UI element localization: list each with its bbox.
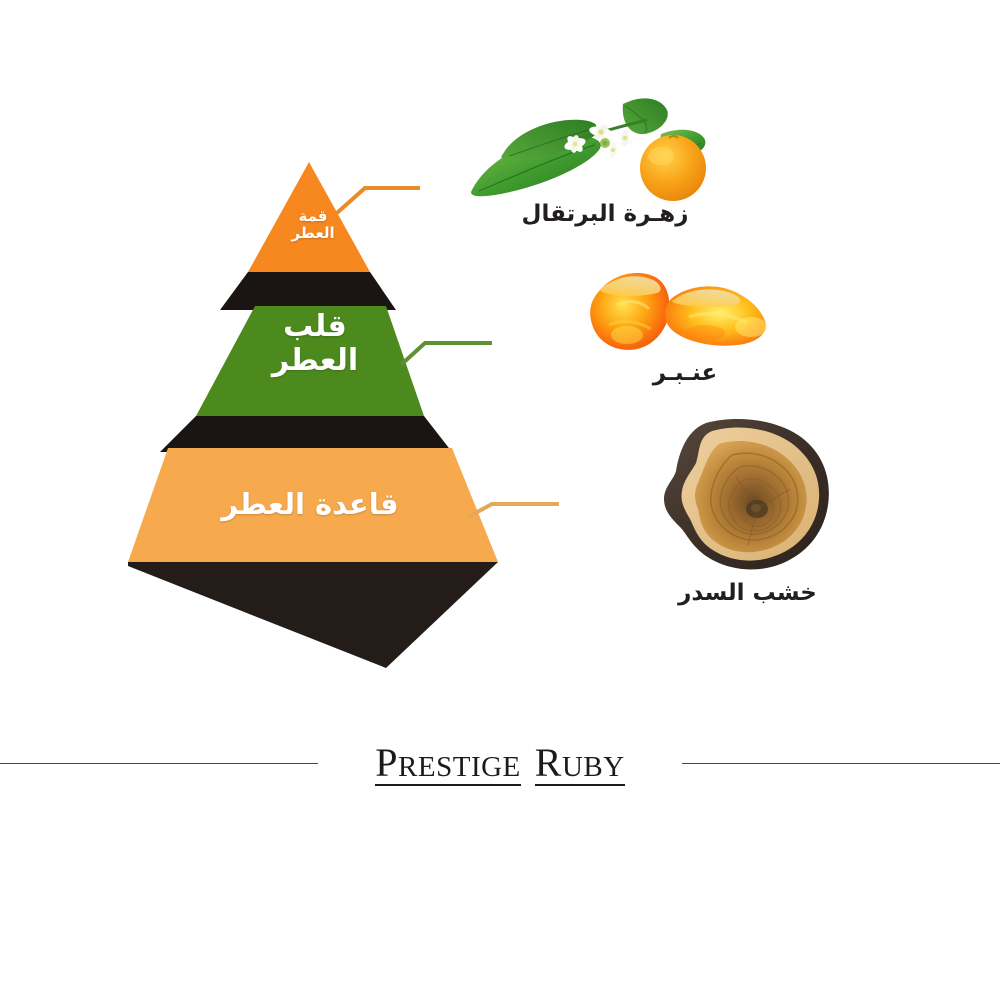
brand-ruby-capital: R <box>535 740 562 785</box>
orange-fruit <box>640 135 706 201</box>
fragrance-pyramid-infographic: قمة العطر قلب العطر قاعدة العطر <box>0 0 1000 1000</box>
brand-word-ruby: RUBY <box>535 743 625 786</box>
orange-blossom-icon <box>455 88 755 203</box>
pyramid-tier-top[interactable] <box>248 162 370 272</box>
pyramid-tier-middle[interactable] <box>196 306 424 416</box>
ingredient-label-sidr-wood: خشب السدر <box>640 580 855 606</box>
brand-rule-right <box>682 763 1000 764</box>
ingredient-card-amber[interactable]: عنـبـر <box>565 255 805 400</box>
ingredient-label-orange-blossom: زهـرة البرتقال <box>455 201 755 227</box>
sidr-wood-icon <box>640 415 855 575</box>
brand-prestige-rest: RESTIGE <box>398 751 521 783</box>
ingredient-label-amber: عنـبـر <box>565 360 805 386</box>
base-tier-shadow <box>128 562 498 668</box>
middle-tier-shadow <box>160 416 452 452</box>
brand-ruby-rest: UBY <box>562 751 625 783</box>
brand-word-prestige: PRESTIGE <box>375 743 520 786</box>
leader-line-top <box>338 188 418 212</box>
brand-rule-left <box>0 763 318 764</box>
top-tier-shadow <box>220 272 396 310</box>
leader-line-middle <box>403 343 490 363</box>
brand-wordmark: PRESTIGE RUBY <box>318 724 682 804</box>
brand-prestige-capital: P <box>375 740 398 785</box>
leader-line-base <box>470 504 557 516</box>
pyramid-tier-base[interactable] <box>128 448 498 562</box>
ingredient-card-orange-blossom[interactable]: زهـرة البرتقال <box>455 88 755 238</box>
ingredient-card-sidr-wood[interactable]: خشب السدر <box>640 415 855 620</box>
amber-icon <box>565 255 805 360</box>
brand-footer: PRESTIGE RUBY <box>0 724 1000 804</box>
